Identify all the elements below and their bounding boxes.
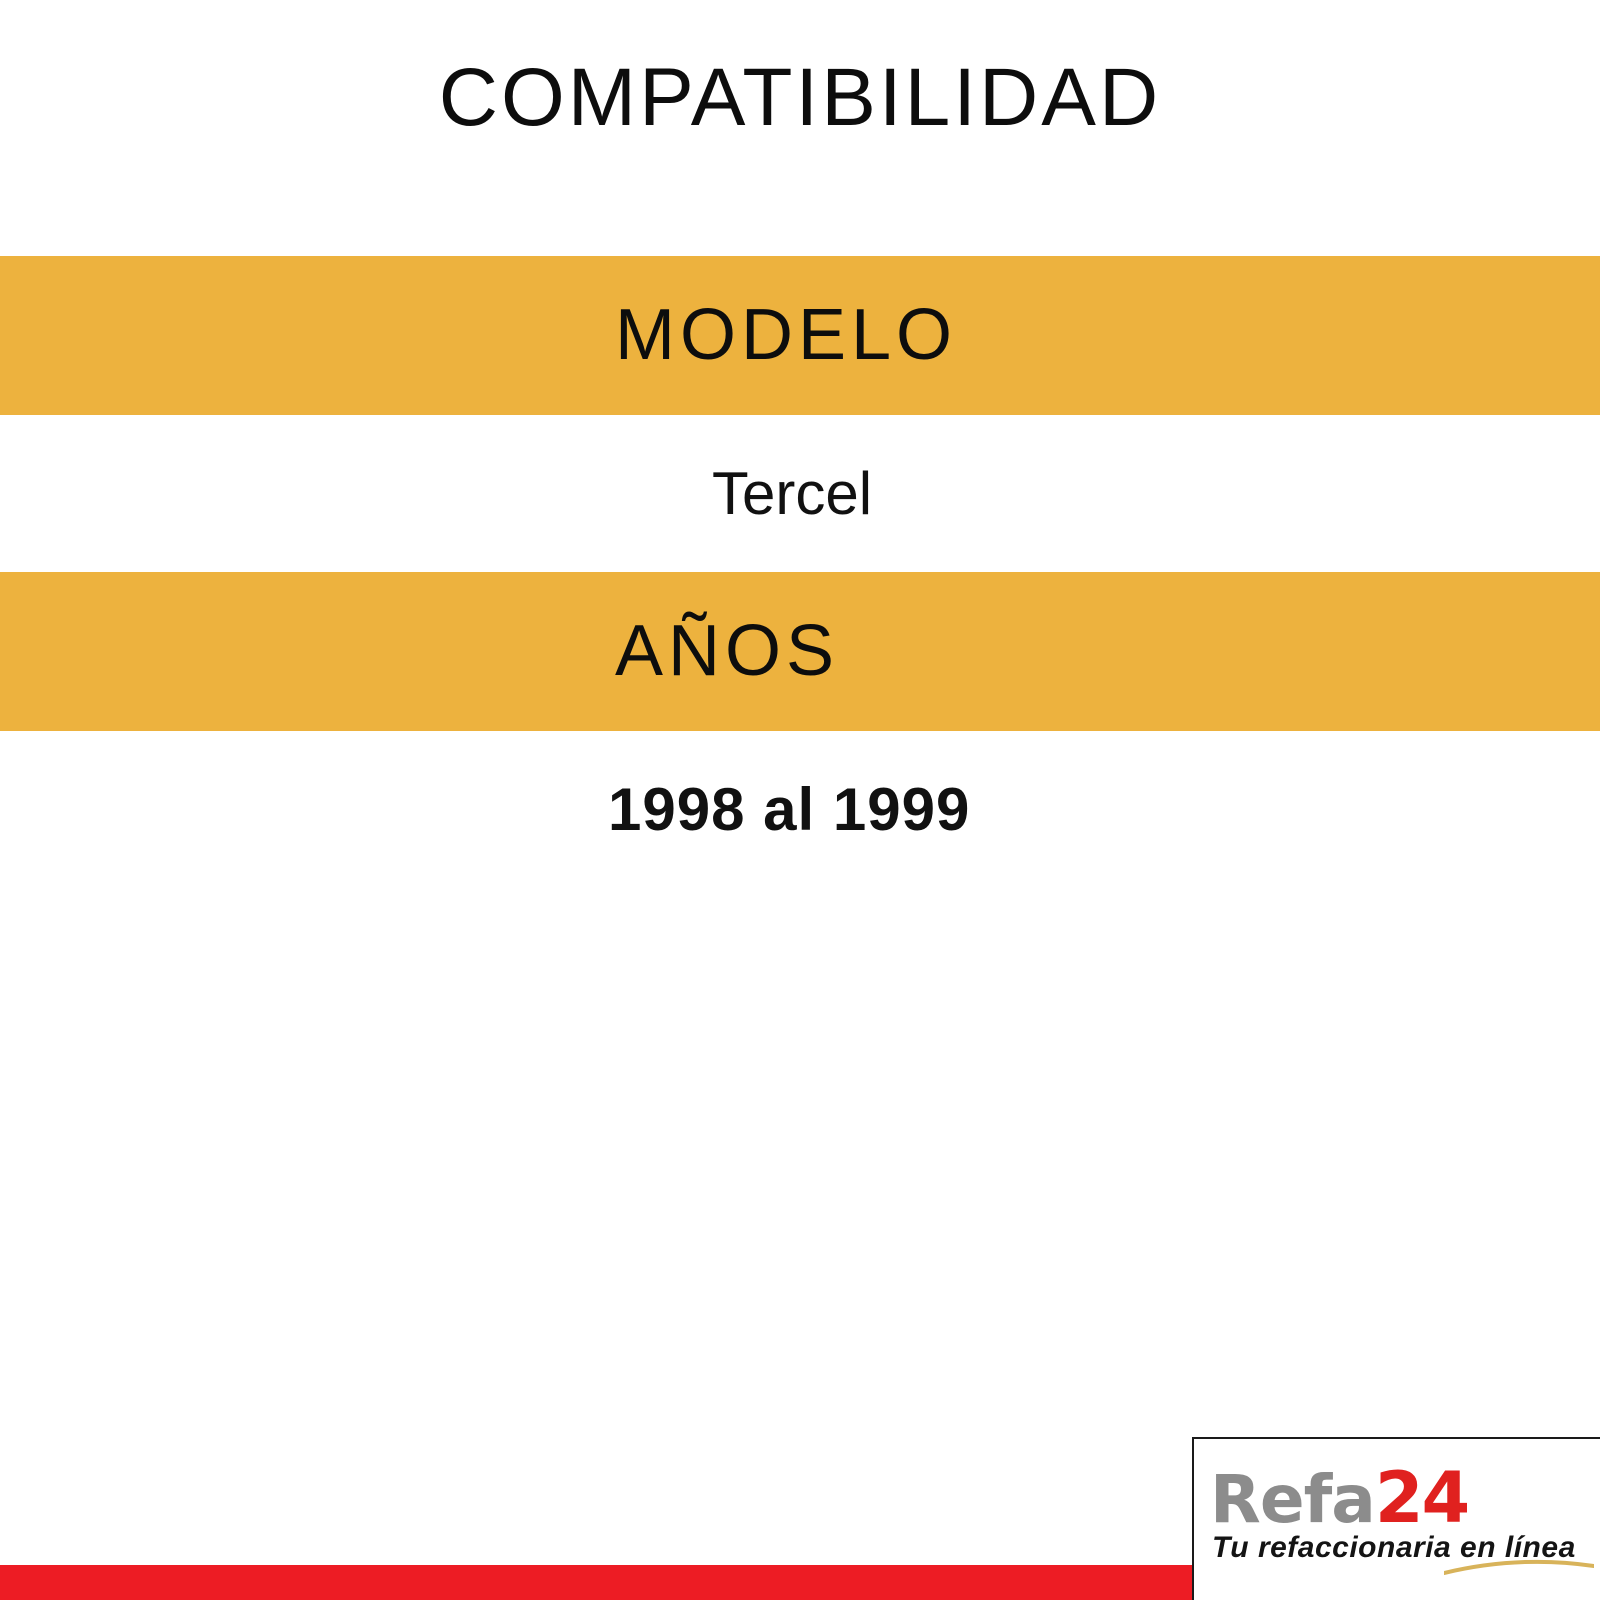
table-header-row-anos: AÑOS	[0, 572, 1600, 731]
page-title: COMPATIBILIDAD	[0, 48, 1600, 148]
cell-value-modelo: Tercel	[0, 415, 1600, 572]
table-row-anos-value: 1998 al 1999	[0, 731, 1600, 888]
column-header-anos: AÑOS	[0, 572, 1600, 731]
brand-logo: Refa24 Tu refaccionaria en línea	[1192, 1437, 1600, 1600]
table-row-modelo-value: Tercel	[0, 415, 1600, 572]
cell-value-anos: 1998 al 1999	[0, 731, 1600, 888]
logo-brand-primary: Refa	[1210, 1461, 1375, 1538]
swoosh-icon	[1444, 1559, 1594, 1575]
footer-accent-bar	[0, 1565, 1193, 1600]
compatibility-page: COMPATIBILIDAD MODELO Tercel AÑOS 1998 a…	[0, 0, 1600, 1600]
logo-brand-secondary: 24	[1375, 1457, 1468, 1539]
column-header-modelo: MODELO	[0, 256, 1600, 415]
compatibility-table: MODELO Tercel AÑOS 1998 al 1999	[0, 256, 1600, 888]
table-header-row-modelo: MODELO	[0, 256, 1600, 415]
logo-wordmark: Refa24	[1210, 1463, 1468, 1533]
